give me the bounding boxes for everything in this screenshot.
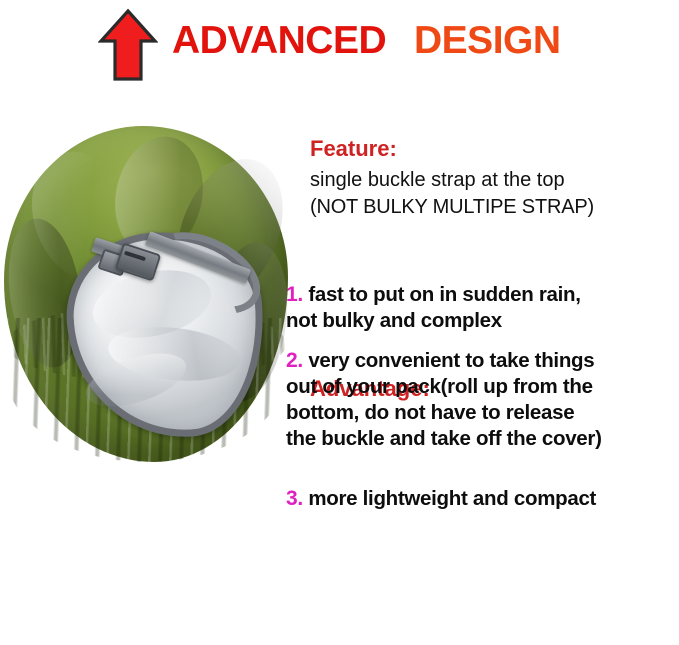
advantage-item-1-line-1: 1. fast to put on in sudden rain, xyxy=(286,282,679,308)
advantage-item-2-line-2: out of your pack(roll up from the xyxy=(286,374,679,400)
feature-heading: Feature: xyxy=(310,134,679,164)
product-photo-rain-cover xyxy=(0,122,296,466)
advantage-item-2-line-3: bottom, do not have to release xyxy=(286,400,679,426)
advantage-item-3-number: 3. xyxy=(286,487,303,510)
feature-line-2: (NOT BULKY MULTIPE STRAP) xyxy=(310,194,679,221)
advantage-item-3-text-1: more lightweight and compact xyxy=(308,487,596,510)
advantage-item-2-text-1: very convenient to take things xyxy=(308,349,594,372)
advantage-item-1-number: 1. xyxy=(286,283,303,306)
advantage-item-2-line-4: the buckle and take off the cover) xyxy=(286,426,679,452)
up-arrow-icon xyxy=(98,8,158,82)
title-advanced: ADVANCED xyxy=(172,18,386,64)
infographic-canvas: ADVANCED DESIGN Feature: single buckle s… xyxy=(0,0,679,645)
advantage-item-1: 1. fast to put on in sudden rain, not bu… xyxy=(286,282,679,334)
title-design: DESIGN xyxy=(414,18,561,64)
advantage-item-3-line-1: 3. more lightweight and compact xyxy=(286,486,679,512)
advantage-item-2: 2. very convenient to take things out of… xyxy=(286,348,679,452)
header-banner: ADVANCED DESIGN xyxy=(0,0,679,95)
advantage-item-1-line-2: not bulky and complex xyxy=(286,308,679,334)
advantage-item-1-text-1: fast to put on in sudden rain, xyxy=(308,283,580,306)
advantage-item-2-line-1: 2. very convenient to take things xyxy=(286,348,679,374)
feature-line-1: single buckle strap at the top xyxy=(310,167,679,194)
feature-block: Feature: single buckle strap at the top … xyxy=(310,134,679,221)
advantage-item-3: 3. more lightweight and compact xyxy=(286,486,679,512)
advantage-item-2-number: 2. xyxy=(286,349,303,372)
